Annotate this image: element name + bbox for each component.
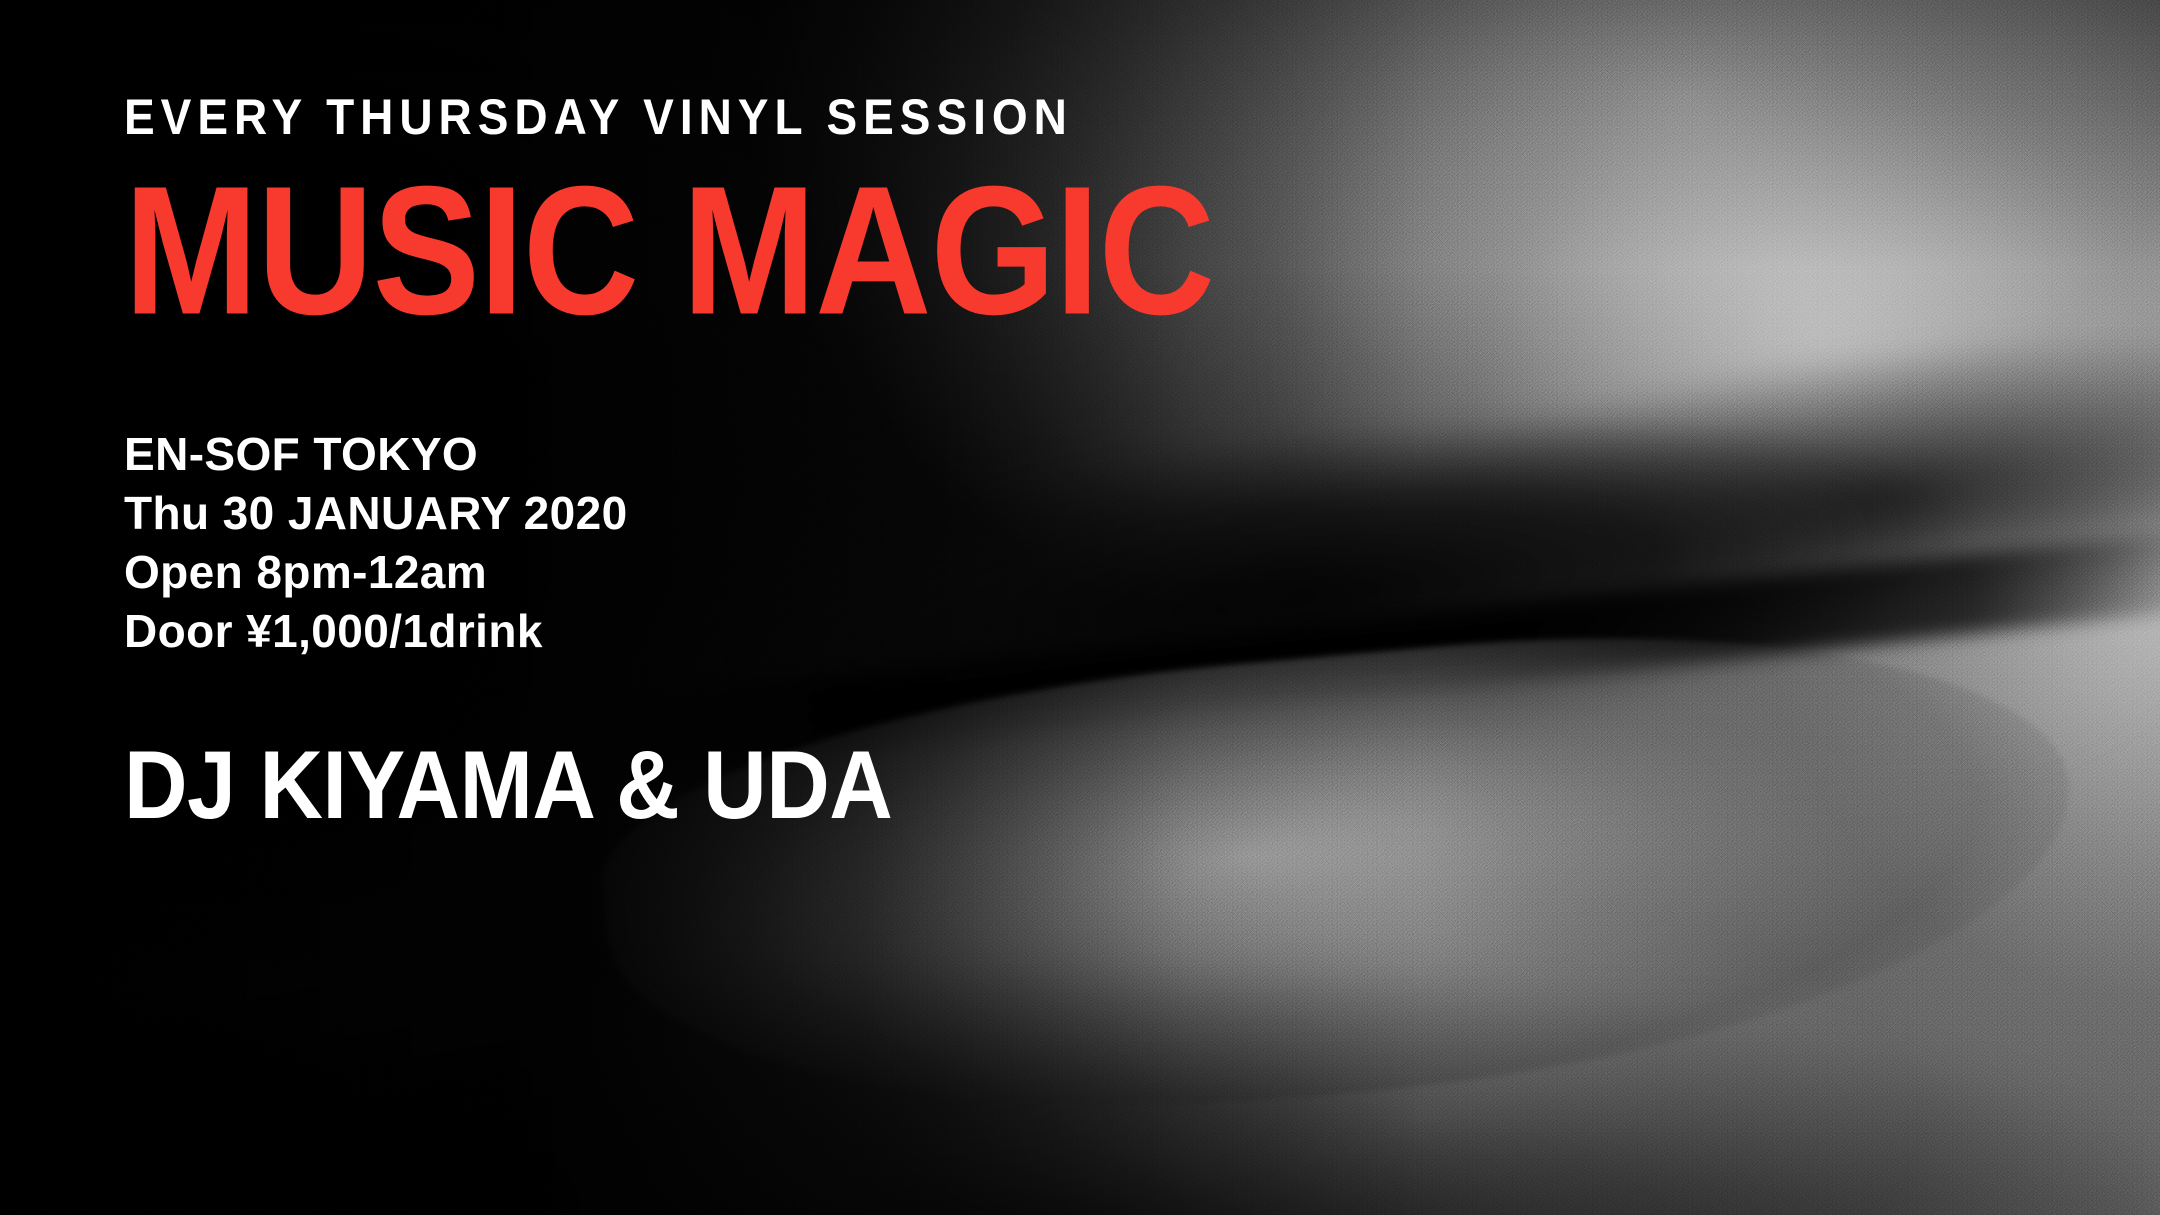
event-date: Thu 30 JANUARY 2020 bbox=[124, 484, 1624, 543]
event-title: MUSIC MAGIC bbox=[124, 171, 1654, 332]
event-lineup: DJ KIYAMA & UDA bbox=[124, 736, 1624, 833]
event-kicker: EVERY THURSDAY VINYL SESSION bbox=[124, 92, 1504, 142]
event-flyer: EVERY THURSDAY VINYL SESSION MUSIC MAGIC… bbox=[0, 0, 2160, 1215]
event-hours: Open 8pm-12am bbox=[124, 543, 1624, 602]
flyer-text-block: EVERY THURSDAY VINYL SESSION MUSIC MAGIC… bbox=[124, 92, 1624, 829]
event-venue: EN-SOF TOKYO bbox=[124, 425, 1624, 484]
event-details: EN-SOF TOKYO Thu 30 JANUARY 2020 Open 8p… bbox=[124, 425, 1624, 661]
event-door-price: Door ¥1,000/1drink bbox=[124, 602, 1624, 661]
